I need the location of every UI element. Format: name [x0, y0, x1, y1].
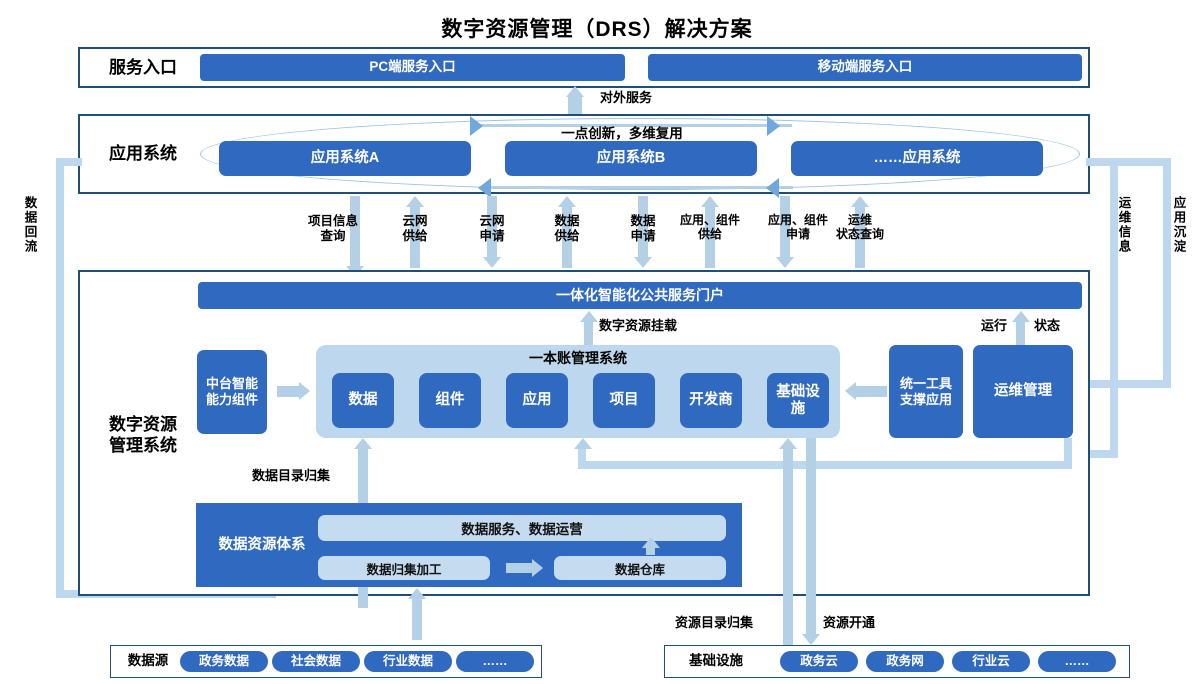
iface-arrow-4-label: 数据 供给	[540, 214, 594, 244]
data-collect-process-bar[interactable]: 数据归集加工	[318, 556, 490, 580]
iface-arrow-8-label: 运维 状态查询	[818, 214, 902, 242]
iface-arrow-6-label: 应用、组件 供给	[667, 214, 753, 242]
tool-to-ledger-arrow-shaft	[855, 386, 887, 397]
data-catalog-arrow-head	[354, 438, 372, 449]
resource-mount-arrow-shaft	[584, 320, 593, 346]
iface-arrow-8-head	[851, 196, 869, 207]
data-source-label: 数据源	[116, 645, 180, 678]
data-source-social[interactable]: 社会数据	[272, 651, 360, 672]
iface-arrow-1-label-line1: 项目信息	[308, 214, 358, 228]
state-label: 状态	[1027, 318, 1067, 334]
iface-arrow-2-label-line1: 云网	[402, 214, 427, 228]
infra-feedback-line-horizontal	[578, 461, 1072, 469]
infra-feedback-arrow-head	[574, 438, 592, 449]
resource-open-label: 资源开通	[823, 615, 903, 631]
ops-info-label: 运维信息	[1117, 196, 1130, 306]
platform-to-ledger-arrow-shaft	[277, 386, 299, 397]
ledger-chip-component[interactable]: 组件	[419, 373, 481, 428]
app-precipitation-line-top	[1086, 158, 1171, 166]
iface-arrow-5-label: 数据 申请	[616, 214, 670, 244]
reuse-arrow-bottom-line	[483, 186, 793, 189]
infra-feedback-line-left	[578, 448, 586, 464]
iface-arrow-2-label-line2: 供给	[402, 229, 427, 243]
iface-arrow-7-head	[776, 257, 794, 268]
infra-gov-network[interactable]: 政务网	[866, 651, 944, 672]
iface-arrow-7-label-line2: 申请	[786, 227, 810, 241]
iface-arrow-4-label-line2: 供给	[554, 229, 579, 243]
iface-arrow-5-label-line2: 申请	[630, 229, 655, 243]
iface-arrow-3-label: 云网 申请	[465, 214, 519, 244]
collect-to-warehouse-arrow-head	[532, 559, 543, 577]
ledger-chip-infrastructure[interactable]: 基础设施	[767, 373, 829, 428]
resource-catalog-label: 资源目录归集	[675, 615, 779, 631]
iface-arrow-1-label-line2: 查询	[320, 229, 345, 243]
infra-gov-cloud[interactable]: 政务云	[780, 651, 858, 672]
ledger-chip-data[interactable]: 数据	[332, 373, 394, 428]
iface-arrow-4-label-line1: 数据	[554, 214, 579, 228]
run-state-arrow-shaft	[1016, 320, 1025, 346]
iface-arrow-2-label: 云网 供给	[388, 214, 442, 244]
app-precipitation-label: 应用沉淀	[1172, 196, 1185, 280]
reuse-arrow-top-head-1	[470, 116, 483, 136]
page-title: 数字资源管理（DRS）解决方案	[0, 13, 1194, 43]
data-catalog-label: 数据目录归集	[252, 468, 356, 484]
iface-arrow-5-head	[634, 257, 652, 268]
drs-label-line2: 管理系统	[109, 435, 177, 456]
iface-arrow-5-label-line1: 数据	[630, 214, 655, 228]
collect-to-warehouse-arrow-shaft	[506, 563, 532, 573]
resource-mount-arrow-head	[580, 311, 598, 322]
data-source-more[interactable]: ……	[456, 651, 534, 672]
source-to-resource-arrow-shaft	[412, 598, 422, 640]
infrastructure-label: 基础设施	[670, 645, 762, 678]
run-label: 运行	[974, 318, 1014, 334]
infra-feedback-line-right	[1064, 438, 1072, 466]
external-service-arrow-head	[566, 86, 584, 97]
ops-management-box[interactable]: 运维管理	[973, 345, 1073, 438]
pc-service-entry-button[interactable]: PC端服务入口	[200, 54, 625, 81]
resource-mount-label: 数字资源挂载	[599, 318, 709, 334]
reuse-motto-label: 一点创新，多维复用	[497, 126, 747, 142]
reuse-arrow-bottom-head-1	[478, 178, 491, 198]
service-entry-label: 服务入口	[88, 47, 198, 88]
application-system-label: 应用系统	[88, 114, 198, 194]
unified-tool-support-app[interactable]: 统一工具支撑应用	[889, 345, 963, 438]
iface-arrow-6-label-line2: 供给	[698, 227, 722, 241]
iface-arrow-6-head	[701, 196, 719, 207]
mobile-service-entry-button[interactable]: 移动端服务入口	[648, 54, 1082, 81]
app-precipitation-line-vertical	[1163, 158, 1171, 388]
iface-arrow-2-head	[406, 196, 424, 207]
data-source-industry[interactable]: 行业数据	[364, 651, 452, 672]
public-service-portal[interactable]: 一体化智能化公共服务门户	[198, 282, 1082, 309]
app-system-b[interactable]: 应用系统B	[505, 141, 757, 176]
data-resource-system-label: 数据资源体系	[200, 503, 324, 587]
data-source-gov[interactable]: 政务数据	[180, 651, 268, 672]
drs-label-line1: 数字资源	[109, 414, 177, 435]
iface-arrow-3-head	[483, 257, 501, 268]
iface-arrow-3-label-line2: 申请	[479, 229, 504, 243]
resource-open-arrow-shaft	[806, 438, 816, 636]
ledger-chip-application[interactable]: 应用	[506, 373, 568, 428]
data-warehouse-bar[interactable]: 数据仓库	[554, 556, 726, 580]
data-backflow-line-vertical	[56, 158, 64, 598]
iface-arrow-4-head	[558, 196, 576, 207]
infra-industry-cloud[interactable]: 行业云	[952, 651, 1030, 672]
reuse-arrow-top-head-2	[767, 116, 780, 136]
iface-arrow-3-label-line1: 云网	[479, 214, 504, 228]
iface-arrow-8-label-line2: 状态查询	[836, 227, 884, 241]
infra-more[interactable]: ……	[1038, 651, 1116, 672]
app-precipitation-line-bottom	[1086, 380, 1171, 388]
middle-platform-capability[interactable]: 中台智能能力组件	[197, 350, 267, 434]
resource-open-arrow-head	[802, 634, 820, 645]
tool-to-ledger-arrow-head	[845, 382, 856, 400]
external-service-label: 对外服务	[600, 90, 690, 106]
iface-arrow-6-label-line1: 应用、组件	[680, 213, 740, 227]
data-backflow-line-top	[56, 158, 82, 166]
data-backflow-label: 数据回流	[23, 196, 36, 280]
warehouse-to-service-arrow-head	[642, 537, 660, 548]
drs-section-label: 数字资源 管理系统	[84, 400, 202, 470]
resource-catalog-arrow-head	[779, 438, 797, 449]
iface-arrow-1-label: 项目信息 查询	[297, 214, 369, 244]
ledger-system-title: 一本账管理系统	[316, 350, 840, 367]
resource-catalog-arrow-shaft	[783, 448, 793, 660]
app-system-more[interactable]: ……应用系统	[791, 141, 1043, 176]
platform-to-ledger-arrow-head	[299, 382, 310, 400]
ledger-chip-project[interactable]: 项目	[593, 373, 655, 428]
diagram-canvas: 数字资源管理（DRS）解决方案 服务入口 PC端服务入口 移动端服务入口 对外服…	[0, 0, 1194, 684]
data-service-operation-bar[interactable]: 数据服务、数据运营	[318, 515, 726, 541]
reuse-arrow-bottom-head-2	[766, 178, 779, 198]
source-to-resource-arrow-head	[408, 588, 426, 599]
iface-arrow-8-label-line1: 运维	[848, 213, 872, 227]
ledger-chip-developer[interactable]: 开发商	[680, 373, 742, 428]
app-system-a[interactable]: 应用系统A	[219, 141, 471, 176]
